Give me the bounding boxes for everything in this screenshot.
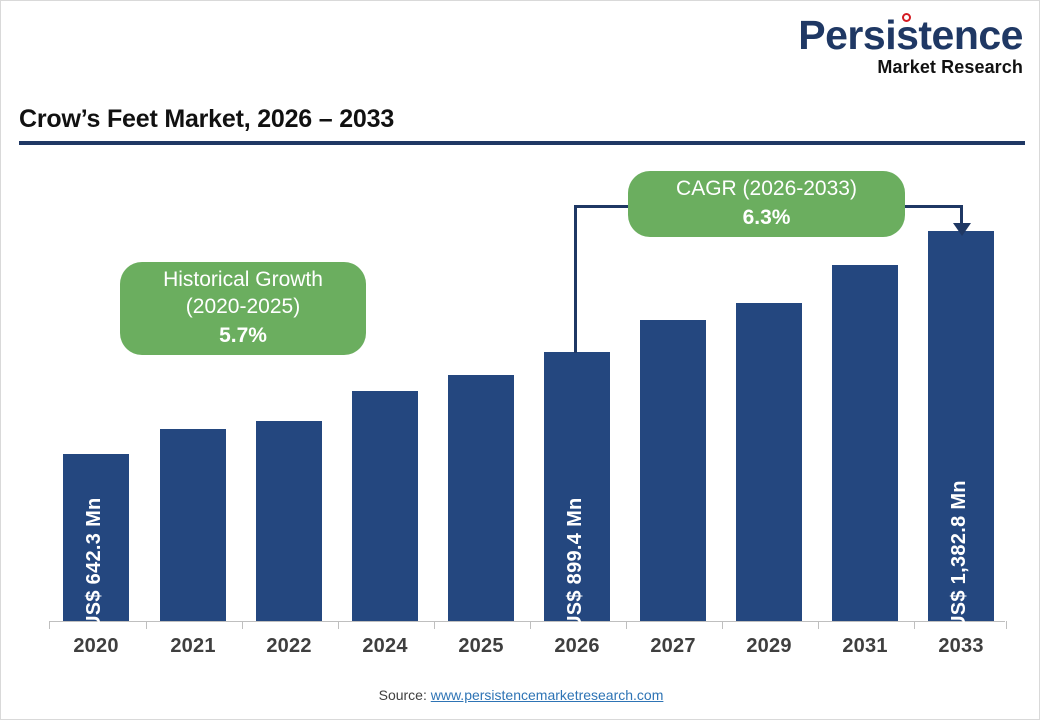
x-tick-end	[1006, 621, 1007, 629]
x-tick-2031	[818, 621, 819, 629]
x-tick-2027	[626, 621, 627, 629]
title-block: Crow’s Feet Market, 2026 – 2033	[19, 105, 1025, 145]
x-label-2024: 2024	[345, 635, 425, 658]
x-label-2026: 2026	[537, 635, 617, 658]
x-label-2022: 2022	[249, 635, 329, 658]
x-tick-2025	[434, 621, 435, 629]
bar-2022	[256, 421, 322, 621]
source-prefix: Source:	[379, 687, 431, 703]
cagr-connector-vertical-left	[574, 205, 577, 353]
x-label-2025: 2025	[441, 635, 521, 658]
x-label-2029: 2029	[729, 635, 809, 658]
x-label-2031: 2031	[825, 635, 905, 658]
x-tick-2029	[722, 621, 723, 629]
x-tick-2033	[914, 621, 915, 629]
page-title: Crow’s Feet Market, 2026 – 2033	[19, 105, 1025, 141]
title-underline	[19, 141, 1025, 145]
historical-growth-value: 5.7%	[219, 323, 267, 350]
x-tick-2020	[49, 621, 50, 629]
historical-growth-callout: Historical Growth (2020-2025) 5.7%	[120, 262, 366, 355]
bar-value-label-2020: US$ 642.3 Mn	[83, 497, 106, 630]
cagr-value: 6.3%	[743, 205, 791, 232]
logo-brand-text: Persistence	[798, 15, 1023, 56]
bar-2033	[928, 231, 994, 621]
bar-2025	[448, 375, 514, 621]
bar-2020	[63, 454, 129, 621]
bar-2024	[352, 391, 418, 621]
source-line: Source: www.persistencemarketresearch.co…	[1, 687, 1040, 703]
logo-tagline: Market Research	[798, 58, 1023, 76]
x-tick-2026	[530, 621, 531, 629]
cagr-connector-horizontal-left	[574, 205, 634, 208]
bar-value-label-2033: US$ 1,382.8 Mn	[948, 480, 971, 630]
x-tick-2021	[146, 621, 147, 629]
cagr-connector-horizontal-right	[899, 205, 962, 208]
x-tick-2022	[242, 621, 243, 629]
cagr-arrow-icon	[953, 223, 971, 236]
cagr-callout: CAGR (2026-2033) 6.3%	[628, 171, 905, 237]
bar-2031	[832, 265, 898, 621]
historical-growth-line1: Historical Growth	[163, 267, 323, 294]
bar-2029	[736, 303, 802, 621]
cagr-line1: CAGR (2026-2033)	[676, 176, 857, 203]
bar-value-label-2026: US$ 899.4 Mn	[564, 497, 587, 630]
chart-canvas: Persistence Market Research Crow’s Feet …	[0, 0, 1040, 720]
x-label-2033: 2033	[921, 635, 1001, 658]
company-logo: Persistence Market Research	[798, 15, 1023, 76]
x-label-2021: 2021	[153, 635, 233, 658]
x-axis-line	[49, 621, 1005, 622]
bar-2021	[160, 429, 226, 621]
x-tick-2024	[338, 621, 339, 629]
x-label-2027: 2027	[633, 635, 713, 658]
x-label-2020: 2020	[56, 635, 136, 658]
source-link[interactable]: www.persistencemarketresearch.com	[431, 687, 664, 703]
historical-growth-line2: (2020-2025)	[186, 294, 300, 321]
bar-2027	[640, 320, 706, 621]
bar-2026	[544, 352, 610, 621]
